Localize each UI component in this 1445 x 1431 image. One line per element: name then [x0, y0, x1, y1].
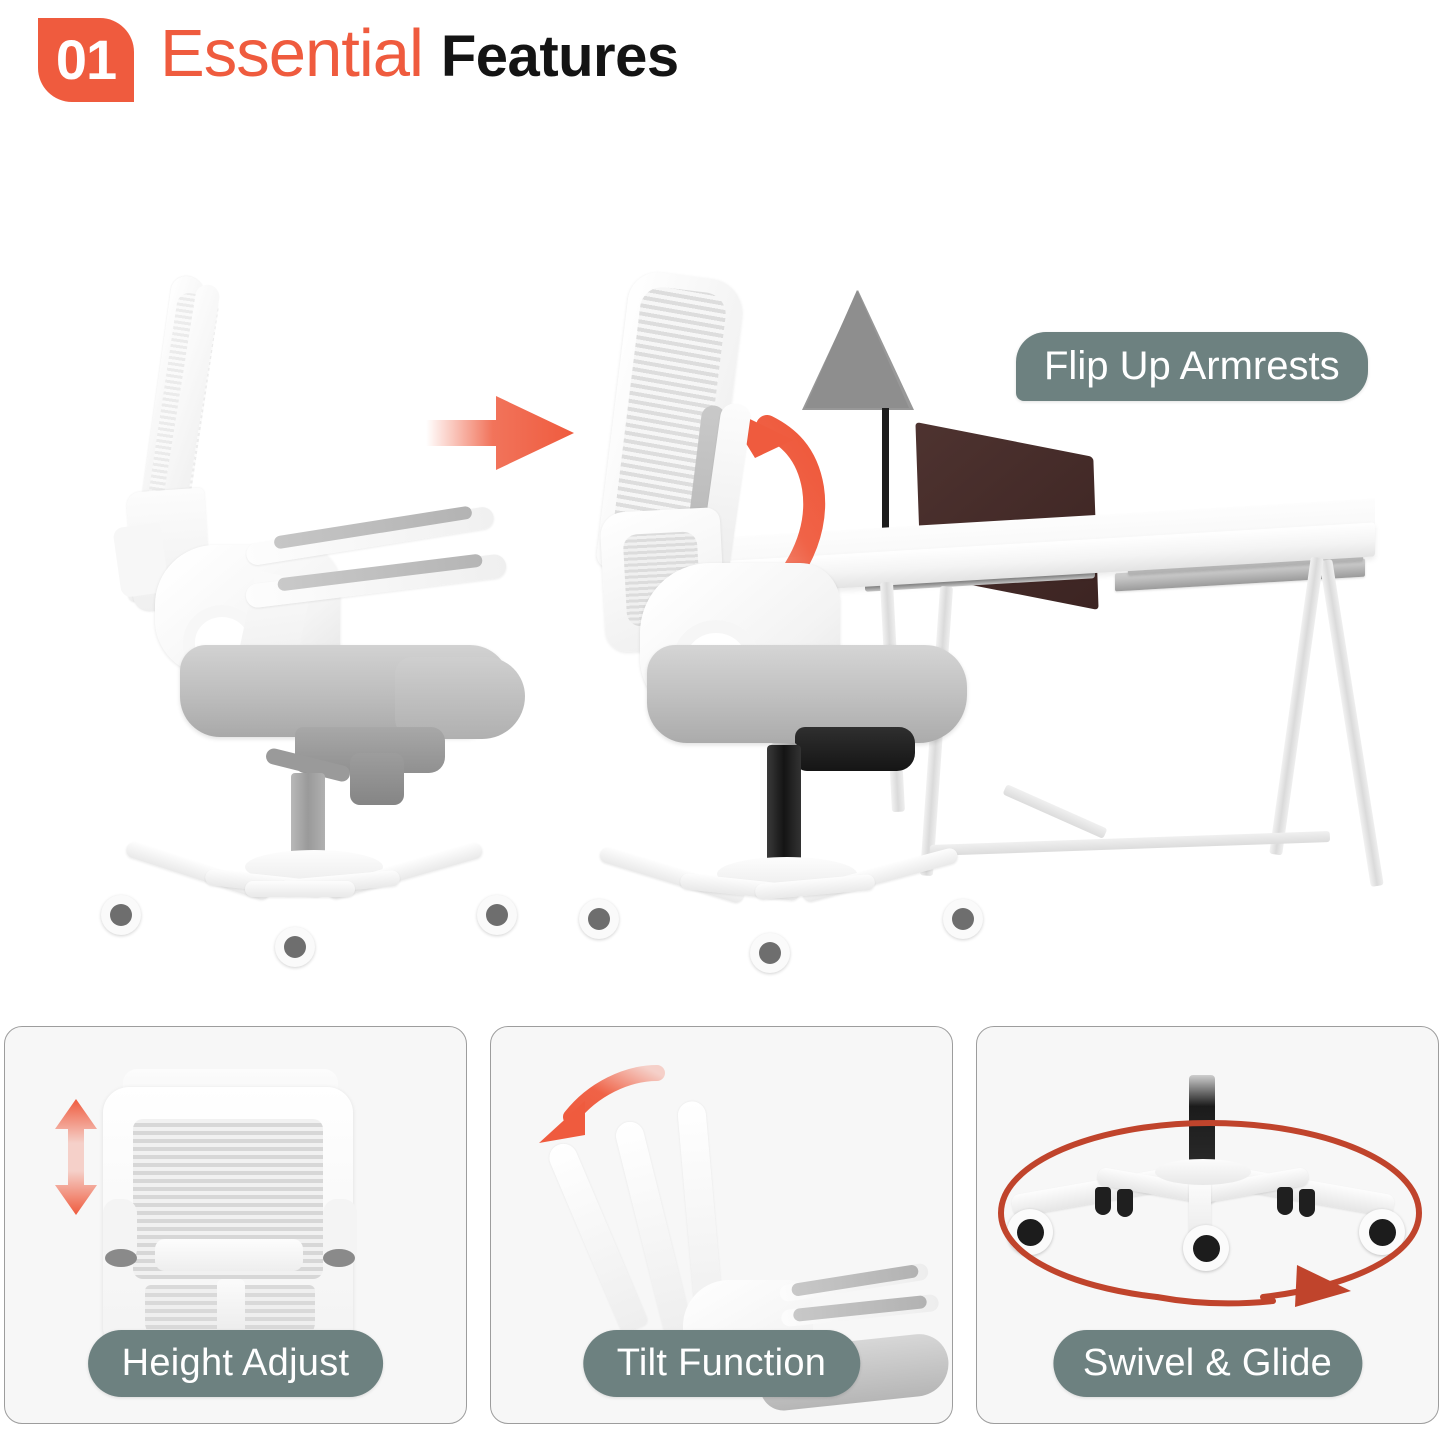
page-title: Essential Features [160, 14, 679, 94]
feature-card-height-adjust[interactable]: Height Adjust [4, 1026, 467, 1424]
feature-card-tilt-function[interactable]: Tilt Function [490, 1026, 953, 1424]
section-number-badge: 01 [38, 18, 134, 102]
chair-lumbar-support [155, 1239, 303, 1271]
chair-caster [477, 895, 517, 935]
feature-label-pill: Swivel & Glide [1053, 1330, 1362, 1397]
feature-label: Swivel & Glide [1083, 1342, 1332, 1384]
chair-caster [943, 899, 983, 939]
header: 01 Essential Features [0, 0, 1445, 130]
feature-panels: Height Adjust [0, 1026, 1445, 1431]
chair-caster [101, 895, 141, 935]
desk-leg [1269, 557, 1324, 856]
chair-armrests-up-illustration [95, 275, 565, 955]
chair-caster [579, 899, 619, 939]
callout-label: Flip Up Armrests [1044, 344, 1340, 388]
title-accent-word: Essential [160, 14, 423, 94]
feature-label-pill: Tilt Function [583, 1330, 860, 1397]
chair-tilt-mechanism [795, 727, 915, 771]
chair-tension-knob [350, 753, 404, 805]
feature-label: Tilt Function [617, 1342, 826, 1384]
chair-caster [750, 933, 790, 973]
chair-base-leg [245, 881, 355, 897]
infographic-page: 01 Essential Features [0, 0, 1445, 1431]
title-main-word: Features [441, 22, 679, 92]
right-arrow-icon [424, 378, 584, 488]
flip-up-armrests-callout: Flip Up Armrests [1016, 332, 1368, 401]
desk-diagonal-brace [1003, 784, 1108, 839]
chair-gas-cylinder [767, 745, 801, 865]
chair-at-desk-illustration [585, 275, 1015, 955]
rotation-ellipse-arrow-icon [995, 1115, 1425, 1315]
section-number: 01 [56, 32, 116, 88]
chair-armrest-left-pad [105, 1249, 137, 1267]
up-down-arrow-icon [53, 1099, 99, 1215]
hero-scene: Flip Up Armrests [0, 120, 1445, 1020]
feature-label: Height Adjust [122, 1342, 350, 1384]
curved-tilt-arrow-icon [535, 1059, 665, 1169]
chair-armrest-right-pad [323, 1249, 355, 1267]
feature-label-pill: Height Adjust [88, 1330, 384, 1397]
feature-card-swivel-glide[interactable]: Swivel & Glide [976, 1026, 1439, 1424]
chair-caster [275, 927, 315, 967]
